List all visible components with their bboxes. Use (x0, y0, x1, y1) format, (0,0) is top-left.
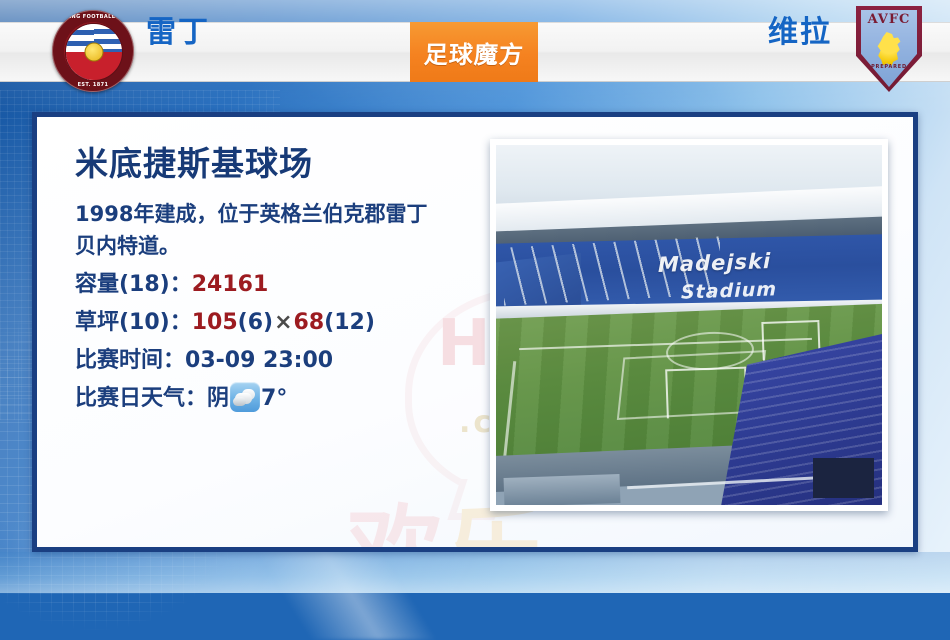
photo-tunnel-entrance (813, 458, 875, 498)
weather-row: 比赛日天气：阴7° (75, 380, 495, 418)
match-time-value: 03-09 23:00 (185, 348, 333, 373)
photo-stand-text-line2: Stadium (681, 278, 777, 303)
crest-motto: PREPARED (856, 64, 922, 70)
pitch-length-value: 105 (192, 310, 238, 335)
crest-inner-shield (65, 23, 123, 81)
photo-goal-near (665, 367, 748, 419)
match-time-row: 比赛时间：03-09 23:00 (75, 342, 495, 380)
pitch-label: 草坪(10)： (75, 310, 192, 335)
stadium-title: 米底捷斯基球场 (75, 144, 495, 184)
capacity-label: 容量(18)： (75, 272, 192, 297)
stadium-photo-frame[interactable]: Madejski Stadium (490, 139, 888, 511)
madejski-stadium-photo: Madejski Stadium (496, 145, 882, 505)
match-time-label: 比赛时间： (75, 348, 185, 373)
cloud-puff-left (233, 397, 246, 406)
reading-fc-crest[interactable]: READING FOOTBALL CLUB EST. 1871 (52, 10, 134, 92)
crest-ring-top-text: READING FOOTBALL CLUB (52, 14, 134, 20)
watermark-char-1: 欢 (347, 495, 447, 547)
pitch-length-rank: (6) (238, 310, 273, 335)
stadium-info-column: 米底捷斯基球场 1998年建成，位于英格兰伯克郡雷丁贝内特道。 容量(18)：2… (75, 144, 495, 418)
crest-initials: AVFC (856, 12, 922, 27)
stadium-info-panel: H W .co 欢乐 米底捷斯基球场 1998年建成，位于英格兰伯克郡雷丁贝内特… (32, 112, 918, 552)
crest-football-icon (85, 43, 104, 62)
capacity-value: 24161 (192, 272, 269, 297)
weather-condition: 阴 (207, 386, 229, 411)
crest-ring-bottom-text: EST. 1871 (52, 82, 134, 88)
photo-corner-concourse (503, 474, 620, 505)
site-logo-text: 足球魔方 (423, 35, 525, 70)
away-team-name[interactable]: 维拉 (768, 18, 832, 48)
stadium-description: 1998年建成，位于英格兰伯克郡雷丁贝内特道。 (75, 198, 431, 262)
weather-label: 比赛日天气： (75, 386, 207, 411)
site-logo[interactable]: 足球魔方 (410, 22, 538, 82)
cloudy-icon (230, 382, 260, 412)
capacity-row: 容量(18)：24161 (75, 266, 495, 304)
pitch-width-value: 68 (294, 310, 325, 335)
aston-villa-crest[interactable]: AVFC PREPARED (856, 6, 922, 92)
pitch-row: 草坪(10)：105(6)×68(12) (75, 304, 495, 342)
weather-temperature: 7° (261, 386, 287, 411)
photo-stand-text-line1: Madejski (658, 249, 771, 277)
panel-surface: H W .co 欢乐 米底捷斯基球场 1998年建成，位于英格兰伯克郡雷丁贝内特… (37, 117, 913, 547)
pitch-dimension-separator: × (273, 310, 293, 335)
pitch-width-rank: (12) (324, 310, 375, 335)
home-team-name[interactable]: 雷丁 (146, 18, 210, 48)
